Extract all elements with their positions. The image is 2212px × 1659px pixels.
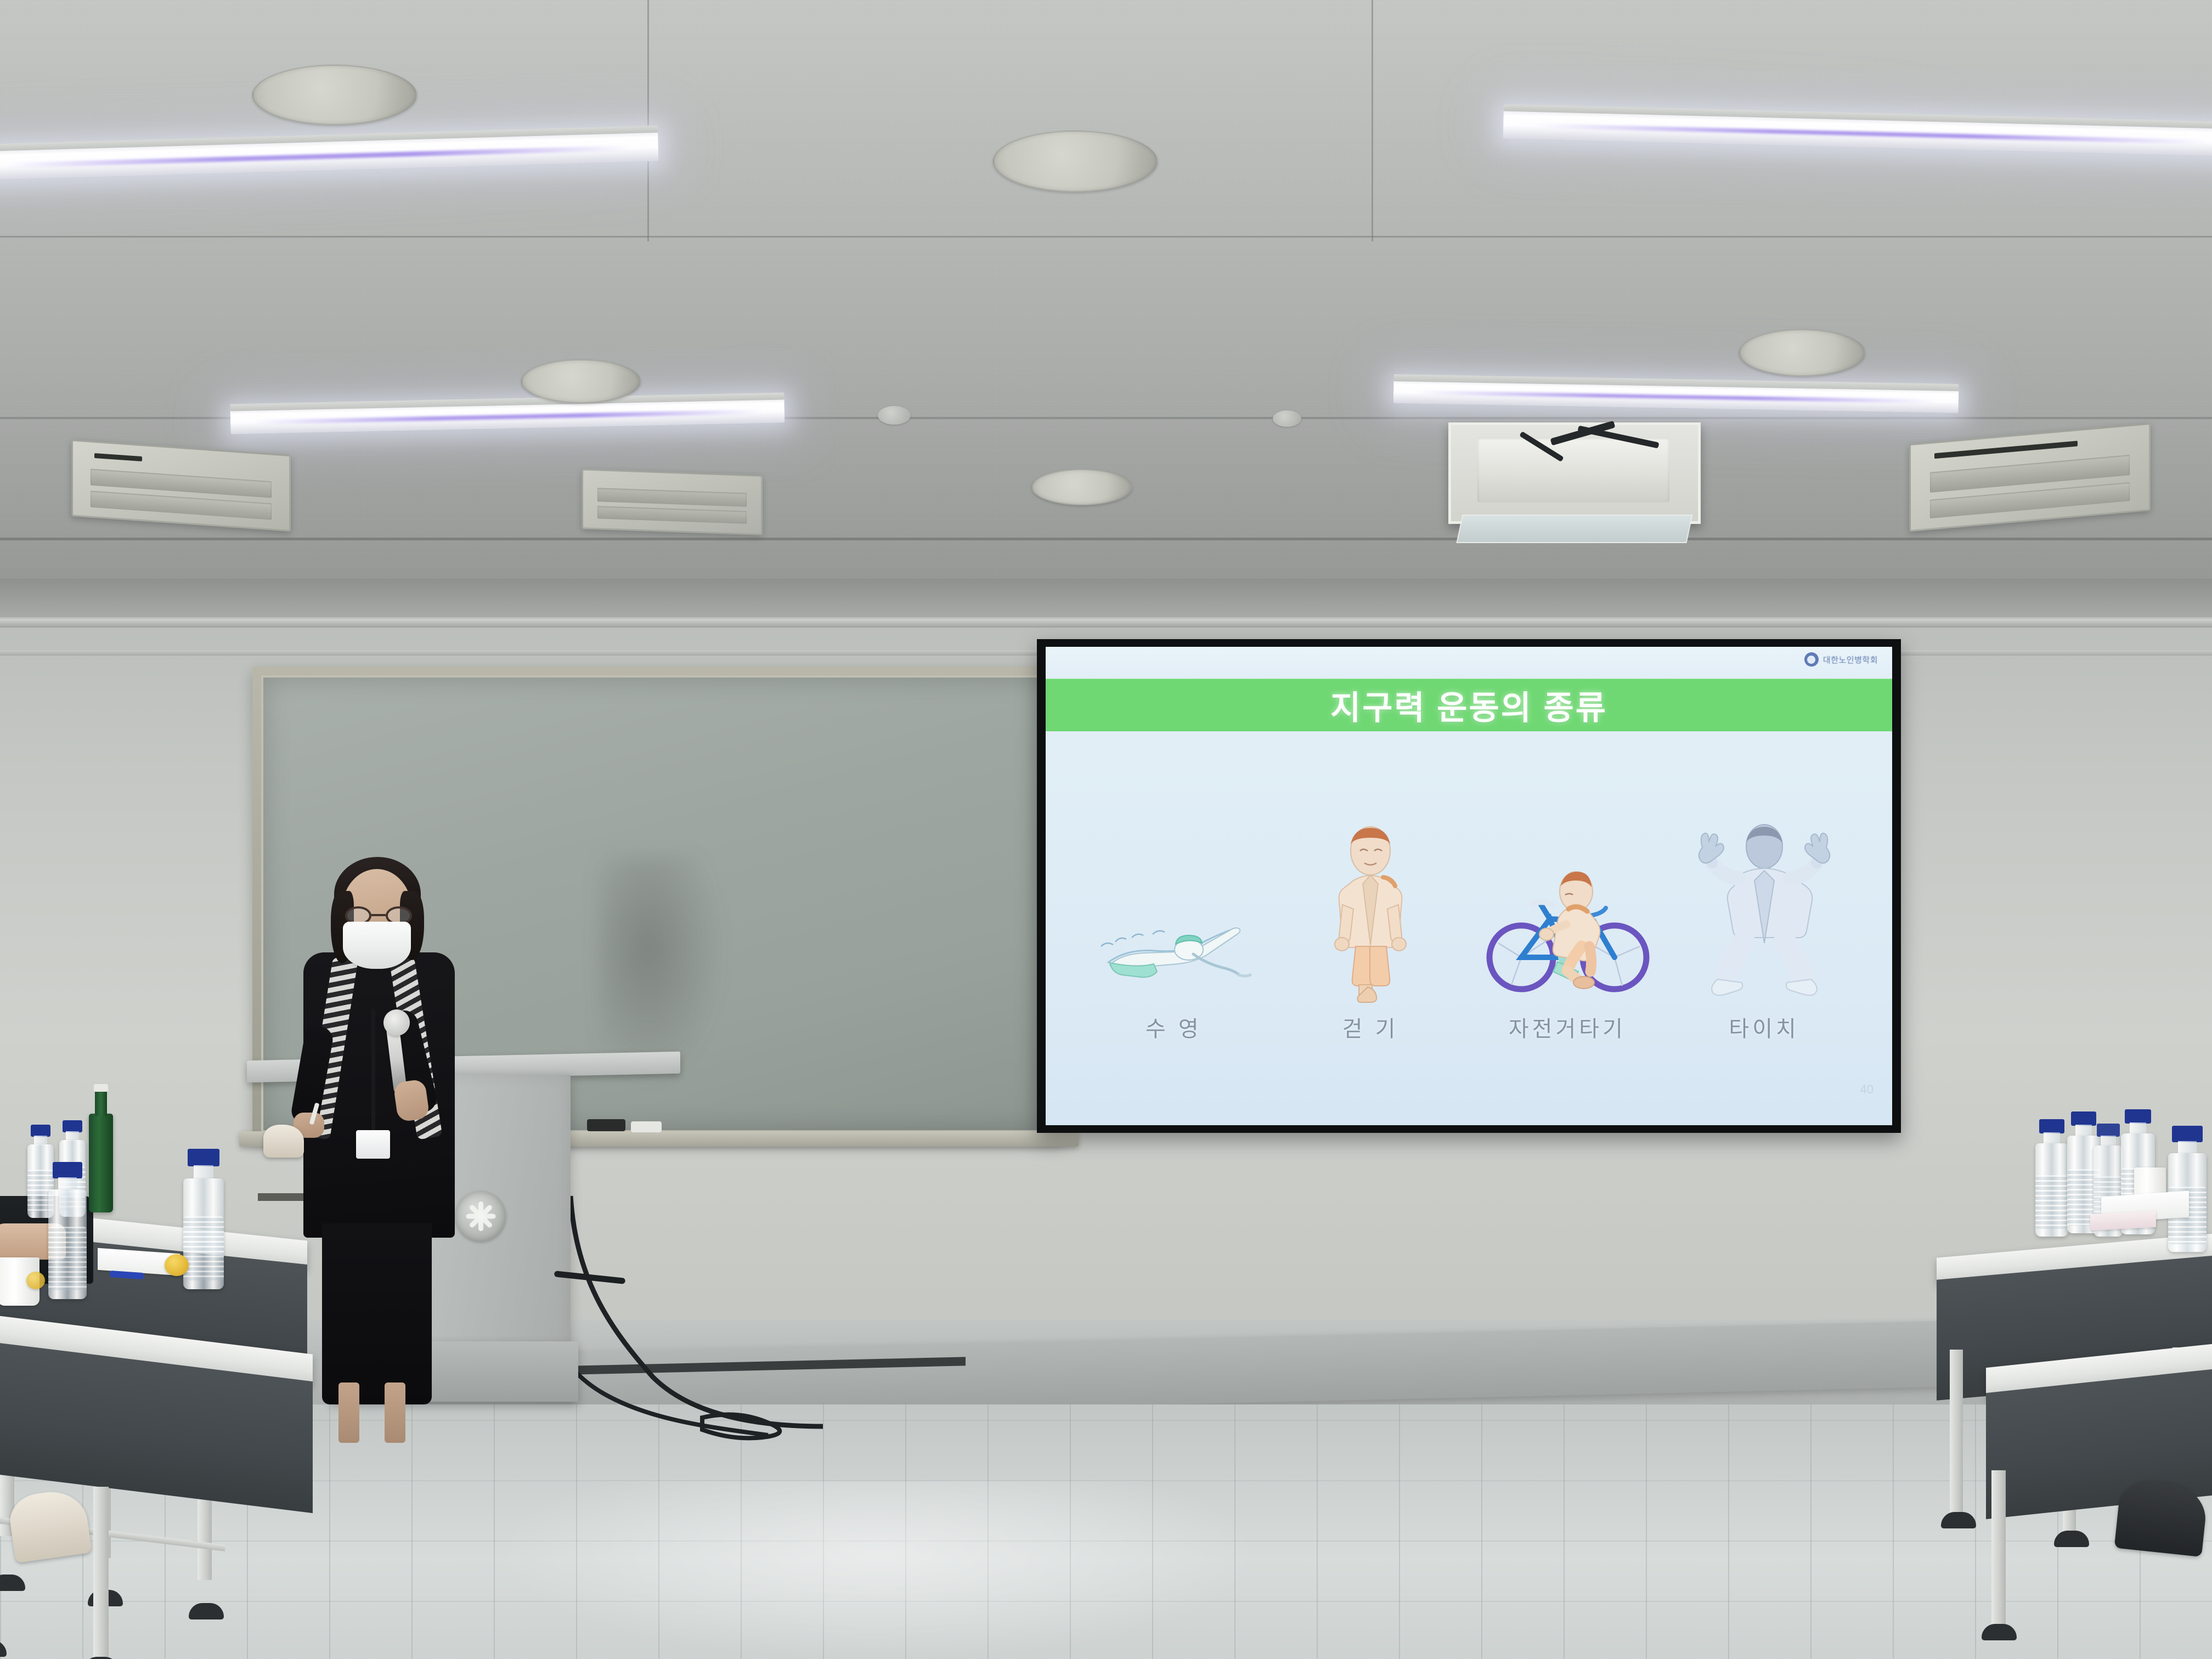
air-conditioner-unit: [71, 439, 291, 532]
ceiling-downlight: [1739, 329, 1865, 376]
floor-cable: [538, 1196, 867, 1459]
ceiling-downlight: [252, 65, 417, 125]
exercise-item-walking: 걷 기: [1284, 822, 1457, 1043]
smoke-detector-icon: [878, 406, 911, 425]
presenter-leg: [338, 1383, 359, 1443]
floor-reflection: [494, 1481, 1262, 1659]
ceiling-downlight: [993, 131, 1158, 192]
projector-body: [1477, 437, 1669, 502]
water-bottle[interactable]: [2035, 1119, 2068, 1237]
table-foot: [83, 1657, 119, 1659]
ceiling-tile-seam: [647, 0, 649, 241]
table-leg: [1991, 1470, 2006, 1635]
organization-logo: 대한노인병학회: [1804, 652, 1878, 667]
face-mask: [343, 922, 411, 969]
ceiling-downlight: [1031, 469, 1132, 505]
slide-title-banner: 지구력 운동의 종류: [1046, 679, 1892, 731]
handout-papers[interactable]: [2090, 1211, 2156, 1231]
logo-mark-icon: [1804, 652, 1819, 667]
green-glass-bottle[interactable]: [89, 1114, 113, 1212]
projector-housing-lid: [1456, 515, 1692, 543]
projection-screen-surface: 대한노인병학회 지구력 운동의 종류: [1046, 647, 1892, 1125]
smoke-detector-icon: [1273, 410, 1301, 427]
right-attendee-table-front: [1986, 1306, 2212, 1659]
exercise-item-cycling: 자전거타기: [1481, 822, 1654, 1043]
presenter-lanyard: [371, 1009, 375, 1133]
ceiling-tile-seam: [1372, 0, 1373, 241]
presenter-skirt: [322, 1223, 432, 1404]
lecture-hall-photo: 대한노인병학회 지구력 운동의 종류: [0, 0, 2212, 1659]
exercise-label: 타이치: [1729, 1011, 1799, 1043]
slide-title: 지구력 운동의 종류: [1330, 681, 1607, 729]
left-attendee-table-front: [0, 1278, 318, 1659]
flower-emblem-icon: [465, 1201, 496, 1232]
tangerine[interactable]: [165, 1254, 189, 1276]
table-foot: [1982, 1624, 2017, 1640]
swimming-icon: [1091, 822, 1256, 1003]
table-foot: [0, 1640, 7, 1657]
slide-header: 대한노인병학회: [1046, 647, 1892, 679]
logo-text: 대한노인병학회: [1823, 654, 1878, 665]
exercise-label: 걷 기: [1342, 1011, 1399, 1043]
taichi-icon: [1685, 822, 1844, 1003]
water-bottle[interactable]: [183, 1149, 224, 1289]
exercise-label: 수 영: [1145, 1011, 1202, 1043]
whiteboard-eraser[interactable]: [631, 1121, 662, 1132]
table-foot: [1941, 1512, 1976, 1528]
table-leg: [93, 1487, 109, 1659]
exercise-label: 자전거타기: [1509, 1011, 1626, 1043]
wall-rail: [0, 619, 2212, 628]
slide-page-number: 40: [1860, 1082, 1874, 1097]
exercise-item-swimming: 수 영: [1087, 822, 1261, 1043]
water-bottle[interactable]: [2168, 1126, 2207, 1252]
whiteboard-marker[interactable]: [587, 1119, 625, 1131]
projection-screen: 대한노인병학회 지구력 운동의 종류: [1037, 639, 1901, 1133]
projector-housing: [1448, 422, 1701, 524]
exercise-item-taichi: 타이치: [1678, 822, 1851, 1043]
presentation-slide: 대한노인병학회 지구력 운동의 종류: [1046, 647, 1892, 1125]
presenter-leg: [385, 1383, 405, 1443]
walking-icon: [1329, 822, 1412, 1003]
wall-upper-band: [0, 579, 2212, 617]
air-conditioner-unit: [582, 469, 763, 535]
table-leg: [1950, 1350, 1963, 1525]
slide-content: 수 영: [1046, 731, 1892, 1125]
ceiling-tile-seam: [0, 538, 2212, 540]
microphone-head-icon[interactable]: [383, 1009, 410, 1036]
water-bottle[interactable]: [48, 1162, 87, 1299]
ceiling-downlight: [521, 359, 641, 403]
presenter-name-badge: [356, 1130, 390, 1159]
tangerine[interactable]: [26, 1272, 45, 1289]
shelf-object: [263, 1125, 304, 1158]
ceiling-tile-seam: [0, 236, 2212, 238]
cycling-icon: [1485, 822, 1650, 1003]
